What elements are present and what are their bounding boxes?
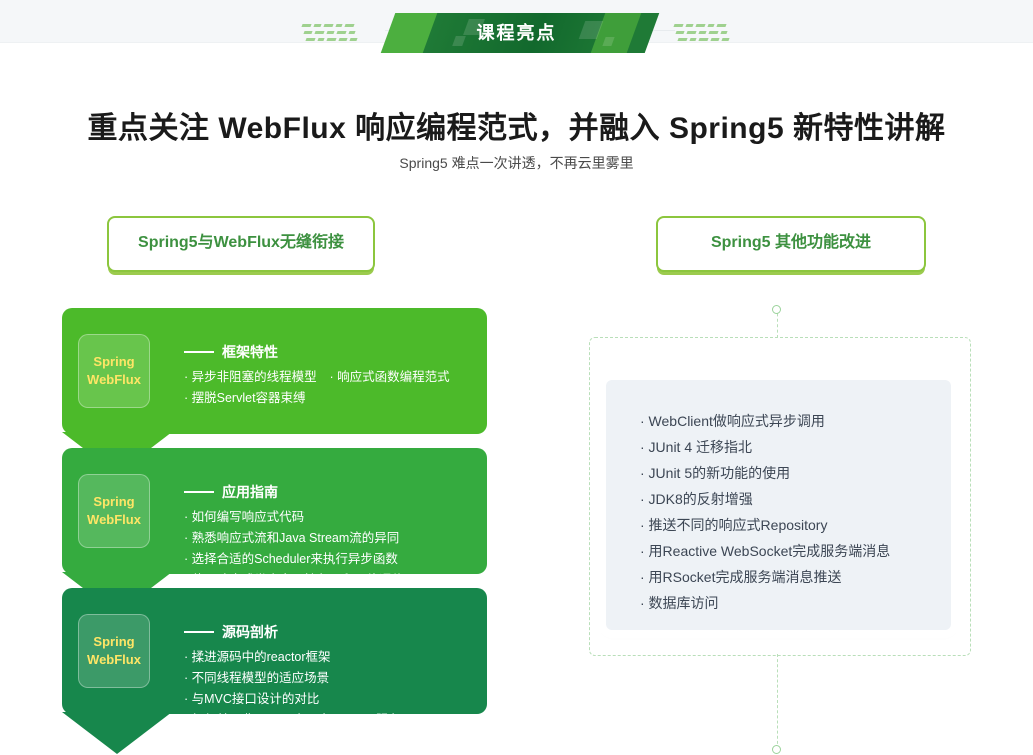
- banner-region: 课程亮点: [0, 0, 1033, 62]
- list-item: · 如何编写响应式代码: [184, 507, 475, 528]
- badge-line-2: WebFlux: [87, 371, 141, 389]
- list-item: · 不同线程模型的适应场景: [184, 668, 475, 689]
- section-header-other-features: Spring5 其他功能改进: [656, 216, 926, 272]
- list-item: · 揉进源码中的reactor框架: [184, 647, 475, 668]
- list-item: · 用Reactive WebSocket完成服务端消息: [640, 538, 890, 564]
- card-section-title: 应用指南: [222, 482, 278, 502]
- dash-icon: [184, 631, 214, 633]
- card-body: 源码剖析 · 揉进源码中的reactor框架 · 不同线程模型的适应场景 · 与…: [184, 622, 475, 731]
- list-item: · 响应式函数编程范式: [330, 367, 476, 388]
- flow-card-guide: Spring WebFlux 应用指南 · 如何编写响应式代码 · 熟悉响应式流…: [62, 448, 487, 574]
- card-section-title-row: 应用指南: [184, 482, 475, 502]
- list-item: · 摆脱Servlet容器束缚: [184, 388, 475, 409]
- list-item: · 熟悉响应式流和Java Stream流的异同: [184, 528, 475, 549]
- page-subtitle: Spring5 难点一次讲透，不再云里雾里: [0, 153, 1033, 173]
- card-item-list: · 如何编写响应式代码 · 熟悉响应式流和Java Stream流的异同 · 选…: [184, 507, 475, 591]
- banner-dots-right-icon: [674, 22, 732, 46]
- card-section-title: 框架特性: [222, 342, 278, 362]
- flow-card-framework: Spring WebFlux 框架特性 · 异步非阻塞的线程模型 · 响应式函数…: [62, 308, 487, 434]
- down-arrow-icon: [62, 712, 172, 754]
- connector-line-bottom: [777, 654, 779, 749]
- flow-card-source-analysis: Spring WebFlux 源码剖析 · 揉进源码中的reactor框架 · …: [62, 588, 487, 714]
- list-item: · 数据库访问: [640, 590, 890, 616]
- badge-line-2: WebFlux: [87, 511, 141, 529]
- spring-webflux-badge: Spring WebFlux: [78, 334, 150, 408]
- card-body: 应用指南 · 如何编写响应式代码 · 熟悉响应式流和Java Stream流的异…: [184, 482, 475, 591]
- banner-label: 课程亮点: [352, 13, 682, 53]
- list-item: · JUnit 4 迁移指北: [640, 434, 890, 460]
- dash-icon: [184, 351, 214, 353]
- page-title: 重点关注 WebFlux 响应编程范式，并融入 Spring5 新特性讲解: [0, 103, 1033, 147]
- card-section-title: 源码剖析: [222, 622, 278, 642]
- badge-line-1: Spring: [93, 493, 134, 511]
- list-item: · 用RSocket完成服务端消息推送: [640, 564, 890, 590]
- course-highlight-banner: 课程亮点: [352, 13, 682, 53]
- card-body: 框架特性 · 异步非阻塞的线程模型 · 响应式函数编程范式 · 摆脱Servle…: [184, 342, 475, 409]
- card-item-list: · 异步非阻塞的线程模型 · 响应式函数编程范式 · 摆脱Servlet容器束缚: [184, 367, 475, 409]
- card-section-title-row: 框架特性: [184, 342, 475, 362]
- list-item: · WebClient做响应式异步调用: [640, 408, 890, 434]
- badge-line-2: WebFlux: [87, 651, 141, 669]
- badge-line-1: Spring: [93, 633, 134, 651]
- spring-webflux-badge: Spring WebFlux: [78, 614, 150, 688]
- list-item: · JDK8的反射增强: [640, 486, 890, 512]
- other-features-inner-card: · WebClient做响应式异步调用 · JUnit 4 迁移指北 · JUn…: [606, 380, 951, 630]
- list-item: · 推送不同的响应式Repository: [640, 512, 890, 538]
- section-header-webflux: Spring5与WebFlux无缝衔接: [107, 216, 375, 272]
- spring-webflux-badge: Spring WebFlux: [78, 474, 150, 548]
- dash-icon: [184, 491, 214, 493]
- list-item: · 选择合适的Scheduler来执行异步函数: [184, 549, 475, 570]
- list-item: · 与MVC接口设计的对比: [184, 689, 475, 710]
- connector-node-top-icon: [772, 305, 781, 314]
- badge-line-1: Spring: [93, 353, 134, 371]
- other-features-list: · WebClient做响应式异步调用 · JUnit 4 迁移指北 · JUn…: [640, 408, 890, 616]
- list-item: · JUnit 5的新功能的使用: [640, 460, 890, 486]
- card-item-list: · 揉进源码中的reactor框架 · 不同线程模型的适应场景 · 与MVC接口…: [184, 647, 475, 731]
- list-item: · 异步非阻塞的线程模型: [184, 367, 330, 388]
- connector-node-bottom-icon: [772, 745, 781, 754]
- card-section-title-row: 源码剖析: [184, 622, 475, 642]
- list-item: · 如何基于非Servlet容器实现HTTP服务器: [184, 710, 475, 731]
